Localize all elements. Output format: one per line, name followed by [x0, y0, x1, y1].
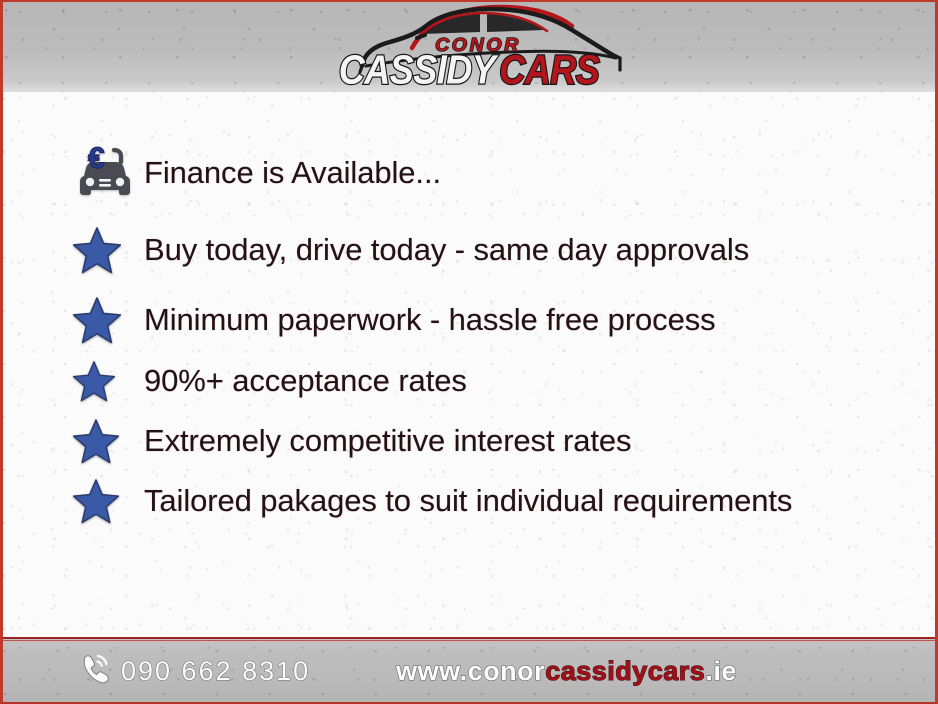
- list-item-label: Extremely competitive interest rates: [144, 425, 631, 458]
- phone-number-text: 090 662 8310: [121, 656, 310, 687]
- benefits-list: € Finance is Available... Buy today, dri…: [72, 144, 898, 524]
- website-prefix-text: www.conor: [396, 656, 545, 686]
- list-item: Tailored pakages to suit individual requ…: [72, 478, 898, 524]
- svg-text:€: €: [88, 144, 105, 175]
- list-item-label: Finance is Available...: [144, 157, 441, 190]
- phone-ringing-icon: [78, 652, 112, 691]
- website-highlight-text: cassidycars: [545, 656, 705, 686]
- advert-poster: CONOR CASSIDYCARS: [0, 0, 938, 704]
- list-item: Minimum paperwork - hassle free process: [72, 296, 898, 344]
- list-item: Buy today, drive today - same day approv…: [72, 226, 898, 274]
- star-icon: [72, 226, 144, 274]
- content-area: € Finance is Available... Buy today, dri…: [0, 92, 938, 637]
- footer-band: 090 662 8310 www.conorcassidycars.ie: [0, 637, 938, 704]
- list-item: € Finance is Available...: [72, 144, 898, 202]
- star-icon: [72, 296, 144, 344]
- brand-logo[interactable]: CONOR CASSIDYCARS: [304, 2, 634, 90]
- list-item-label: Tailored pakages to suit individual requ…: [144, 485, 792, 518]
- star-icon: [72, 360, 144, 402]
- list-item-label: Minimum paperwork - hassle free process: [144, 304, 716, 337]
- list-item-label: Buy today, drive today - same day approv…: [144, 234, 749, 267]
- logo-wordmark: CONOR CASSIDYCARS: [304, 36, 634, 88]
- header-band: CONOR CASSIDYCARS: [0, 0, 938, 92]
- star-icon: [72, 418, 144, 464]
- phone-contact[interactable]: 090 662 8310: [78, 652, 310, 691]
- list-item: 90%+ acceptance rates: [72, 358, 898, 404]
- website-suffix-text: .ie: [705, 656, 737, 686]
- car-euro-finance-icon: €: [72, 144, 144, 202]
- list-item-label: 90%+ acceptance rates: [144, 365, 467, 398]
- list-item: Extremely competitive interest rates: [72, 418, 898, 464]
- logo-cassidy-text: CASSIDY: [339, 46, 496, 92]
- logo-main-text: CASSIDYCARS: [304, 50, 634, 90]
- star-icon: [72, 478, 144, 524]
- logo-cars-text: CARS: [499, 46, 599, 92]
- website-url[interactable]: www.conorcassidycars.ie: [396, 656, 737, 687]
